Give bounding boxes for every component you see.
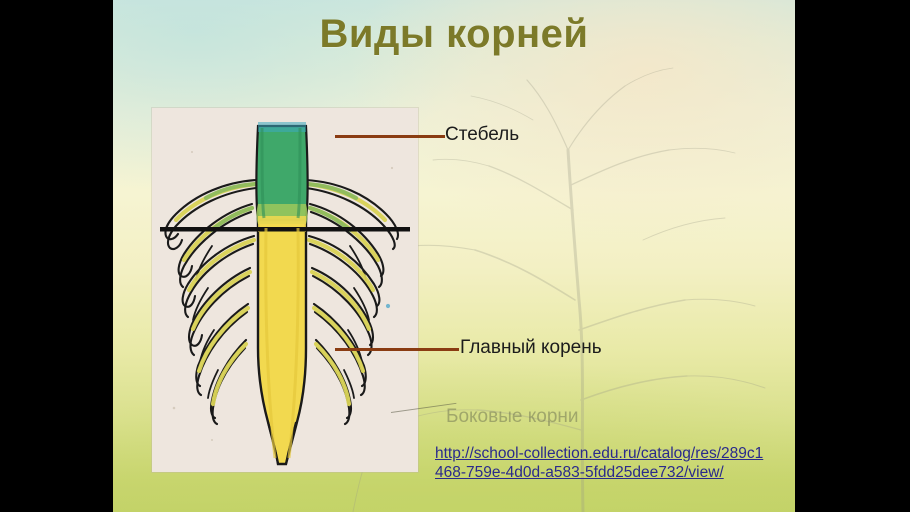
leader-line-stem: [335, 135, 445, 138]
callout-label-lateral-roots: Боковые корни: [446, 406, 579, 428]
taproot-diagram-svg: [152, 108, 418, 472]
slide-viewer: Виды корней: [0, 0, 910, 512]
callout-label-main-root: Главный корень: [460, 337, 602, 359]
letterbox-bar-right: [795, 0, 910, 512]
presentation-slide: Виды корней: [113, 0, 795, 512]
letterbox-bar-left: [0, 0, 113, 512]
taproot-illustration: [152, 108, 418, 472]
soil-line: [160, 227, 410, 232]
leader-line-main-root: [335, 348, 459, 351]
source-link[interactable]: http://school-collection.edu.ru/catalog/…: [435, 444, 765, 482]
page-title: Виды корней: [113, 12, 795, 57]
callout-label-stem: Стебель: [445, 124, 519, 146]
